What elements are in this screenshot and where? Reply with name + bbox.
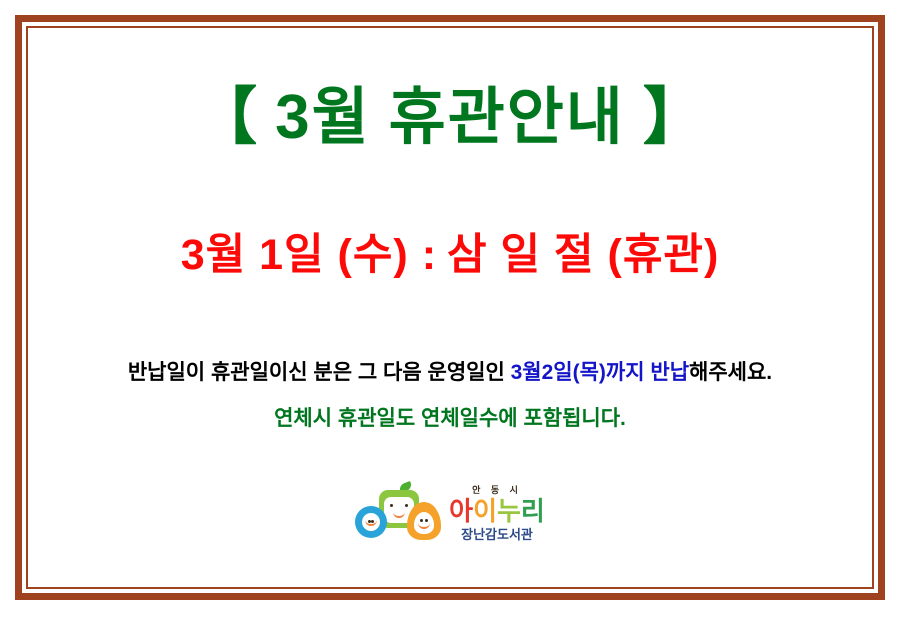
logo-brand-char-3: 누 [497,498,521,524]
closure-date-line: 3월 1일 (수) :삼 일 절 (휴관) [22,220,878,282]
bracket-open-icon: 【 [195,83,257,152]
library-logo: 안 동 시 아이누리 장난감도서관 [355,484,545,542]
title-month: 3월 [275,83,371,152]
poster-content: 【3월휴관안내】 3월 1일 (수) :삼 일 절 (휴관) 반납일이 휴관일이… [22,22,878,593]
logo-brand-char-4: 리 [521,498,545,524]
return-deadline-highlight: 3월2일(목)까지 반납 [511,361,689,384]
logo-mascots [355,484,441,542]
title-text: 휴관안내 [389,83,625,152]
mascot-orange-icon [407,502,441,540]
return-policy-prefix: 반납일이 휴관일이신 분은 그 다음 운영일인 [128,361,511,384]
logo-city-name: 안 동 시 [472,486,522,495]
return-policy-suffix: 해주세요. [689,361,772,384]
mascot-blue-face [362,513,380,531]
logo-text-block: 안 동 시 아이누리 장난감도서관 [449,486,545,541]
smile-icon [418,522,430,529]
smile-icon [393,511,405,518]
eye-icon [405,504,408,507]
closure-date: 3월 1일 (수) : [181,231,437,279]
logo-brand-char-2: 이 [473,498,497,524]
overdue-policy-line: 연체시 휴관일도 연체일수에 포함됩니다. [22,402,878,432]
page-title: 【3월휴관안내】 [22,84,878,152]
eye-icon [390,504,393,507]
return-policy-line: 반납일이 휴관일이신 분은 그 다음 운영일인 3월2일(목)까지 반납해주세요… [22,356,878,386]
bracket-close-icon: 】 [643,83,705,152]
logo-subtitle: 장난감도서관 [461,528,533,541]
smile-icon [365,519,377,526]
mascot-blue-icon [355,506,387,538]
logo-brand-name: 아이누리 [449,498,545,524]
mascot-orange-face [414,512,434,534]
logo-brand-char-1: 아 [449,498,473,524]
notice-poster: 【3월휴관안내】 3월 1일 (수) :삼 일 절 (휴관) 반납일이 휴관일이… [15,15,885,600]
closure-holiday-name: 삼 일 절 (휴관) [447,231,719,279]
